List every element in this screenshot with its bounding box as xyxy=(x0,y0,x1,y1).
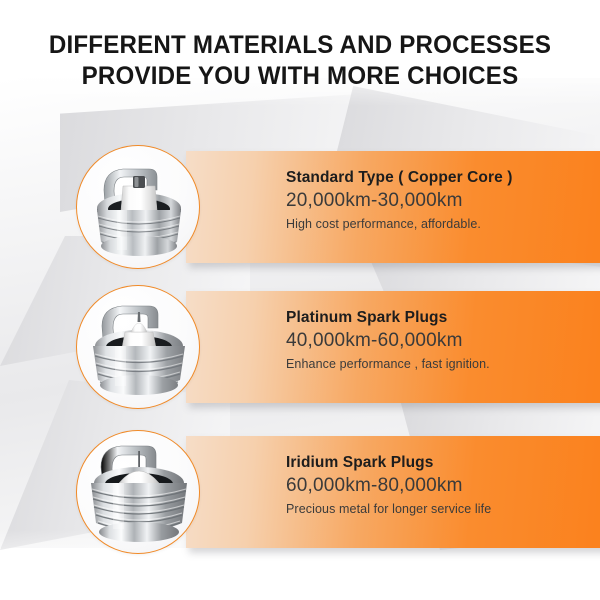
spark-plug-iridium-icon xyxy=(76,430,200,554)
card-text-block: Standard Type ( Copper Core ) 20,000km-3… xyxy=(286,169,595,231)
card-panel: Platinum Spark Plugs 40,000km-60,000km E… xyxy=(186,291,600,403)
spark-plug-copper-illustration xyxy=(77,146,200,269)
card-title: Platinum Spark Plugs xyxy=(286,309,595,327)
card-panel: Standard Type ( Copper Core ) 20,000km-3… xyxy=(186,151,600,263)
spark-plug-copper-icon xyxy=(76,145,200,269)
card-panel: Iridium Spark Plugs 60,000km-80,000km Pr… xyxy=(186,436,600,548)
card-description: Enhance performance , fast ignition. xyxy=(286,357,595,371)
spark-plug-platinum-illustration xyxy=(77,286,200,409)
card-text-block: Iridium Spark Plugs 60,000km-80,000km Pr… xyxy=(286,454,595,516)
card-mileage: 40,000km-60,000km xyxy=(286,330,595,352)
card-mileage: 60,000km-80,000km xyxy=(286,475,595,497)
spark-plug-platinum-icon xyxy=(76,285,200,409)
card-mileage: 20,000km-30,000km xyxy=(286,190,595,212)
page-title: DIFFERENT MATERIALS AND PROCESSES PROVID… xyxy=(11,30,590,91)
card-title: Standard Type ( Copper Core ) xyxy=(286,169,595,187)
card-text-block: Platinum Spark Plugs 40,000km-60,000km E… xyxy=(286,309,595,371)
page-title-line-1: DIFFERENT MATERIALS AND PROCESSES xyxy=(11,30,590,61)
infographic-stage: DIFFERENT MATERIALS AND PROCESSES PROVID… xyxy=(0,0,600,600)
card-description: Precious metal for longer service life xyxy=(286,502,595,516)
card-title: Iridium Spark Plugs xyxy=(286,454,595,472)
spark-plug-iridium-illustration xyxy=(77,431,200,554)
card-description: High cost performance, affordable. xyxy=(286,217,595,231)
page-title-line-2: PROVIDE YOU WITH MORE CHOICES xyxy=(11,61,590,92)
